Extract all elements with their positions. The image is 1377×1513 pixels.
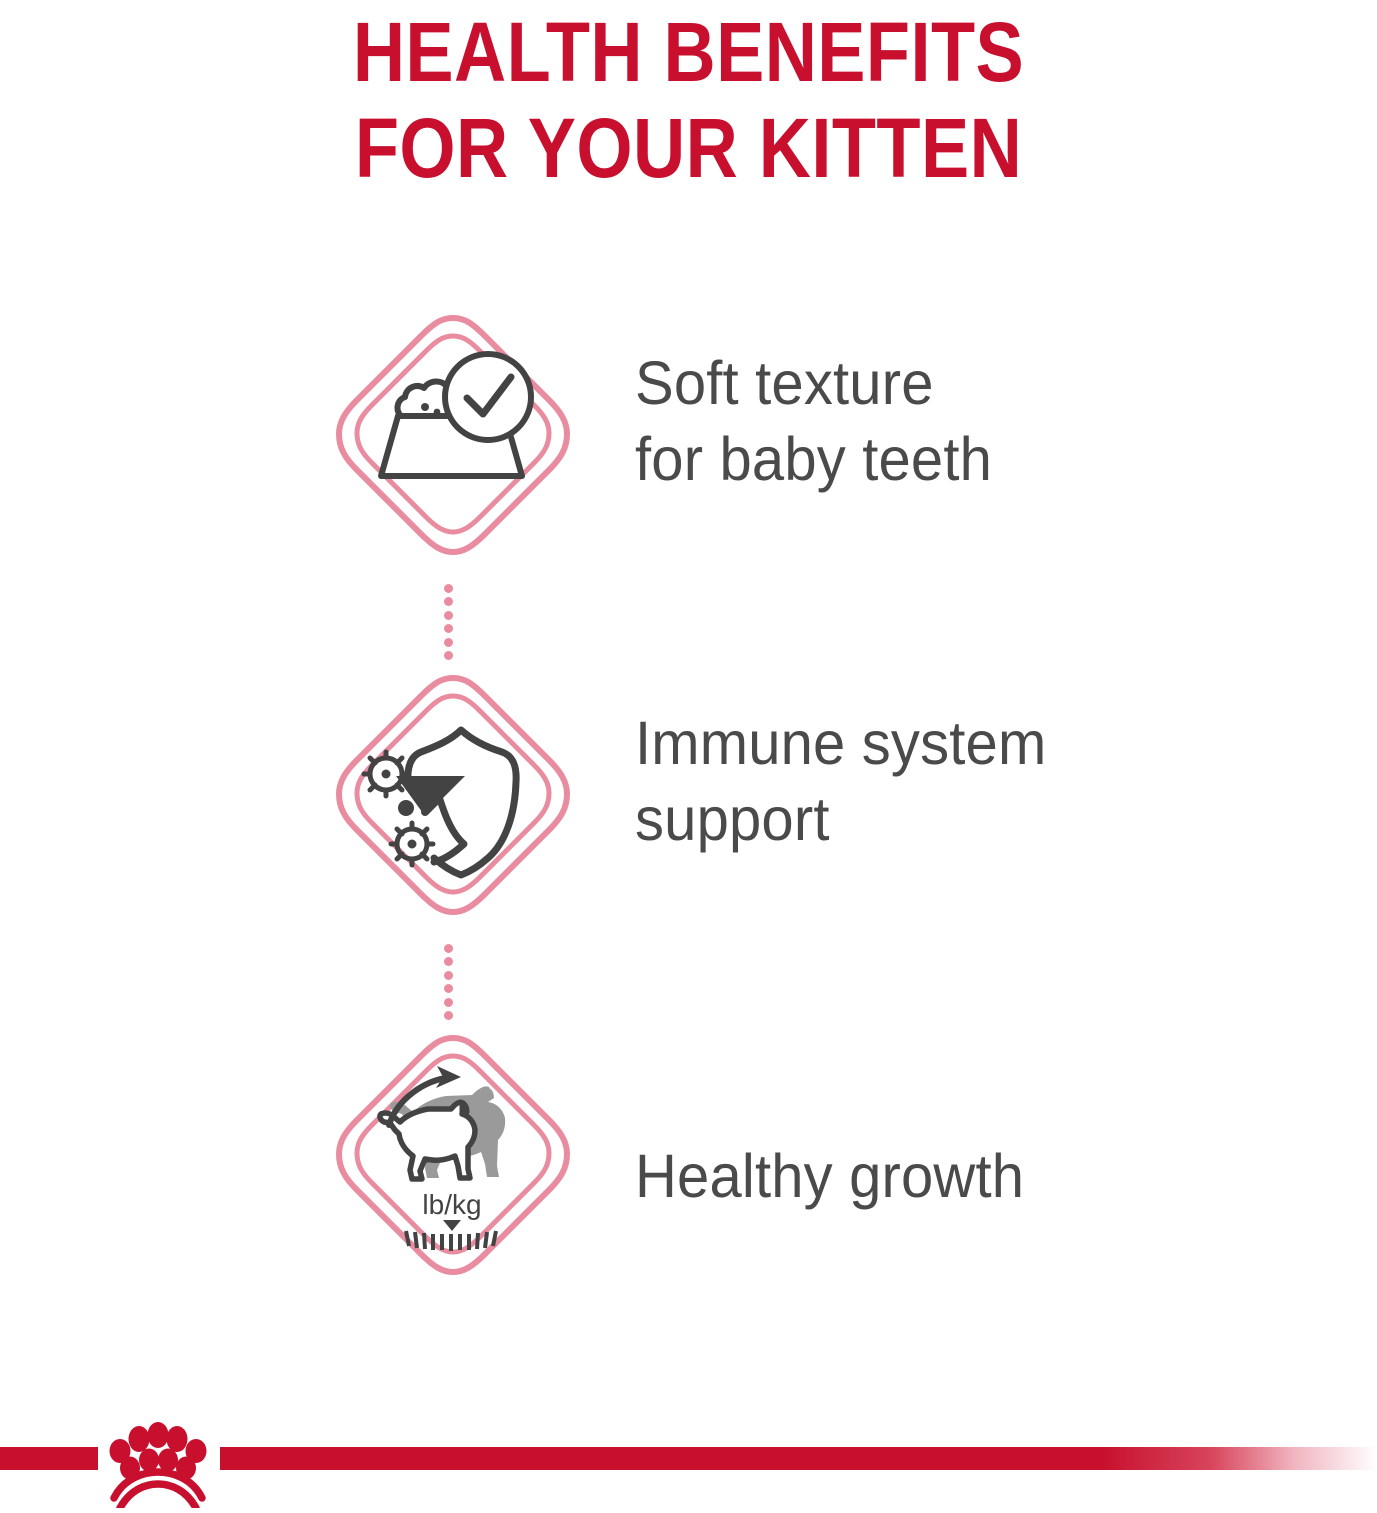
page-title: HEALTH BENEFITS FOR YOUR KITTEN <box>0 0 1377 196</box>
benefit-label-line-2: support <box>635 781 1291 857</box>
title-line-1: HEALTH BENEFITS <box>96 4 1280 100</box>
footer <box>0 1430 1377 1500</box>
health-benefits-list: Soft texture for baby teeth <box>0 300 1377 1380</box>
dotted-connector <box>440 584 456 660</box>
benefit-label-line-1: Healthy growth <box>635 1138 1291 1214</box>
benefit-label: Immune system support <box>635 705 1291 857</box>
benefit-icon-food-bowl <box>333 312 573 574</box>
connector-dot <box>444 957 453 966</box>
connector-dot <box>444 971 453 980</box>
benefit-label-line-1: Soft texture <box>635 345 1291 421</box>
connector-dot <box>444 597 453 606</box>
title-line-2: FOR YOUR KITTEN <box>96 100 1280 196</box>
benefit-icon-cat-growth: lb/kg <box>333 1032 573 1294</box>
benefit-row: Immune system support <box>0 660 1377 1020</box>
connector-dot <box>444 651 453 660</box>
benefit-label-line-1: Immune system <box>635 705 1291 781</box>
benefit-row: Soft texture for baby teeth <box>0 300 1377 660</box>
benefit-label-line-2: for baby teeth <box>635 421 1291 497</box>
benefit-row: lb/kg Healt <box>0 1020 1377 1380</box>
benefit-label: Healthy growth <box>635 1138 1291 1214</box>
benefit-label: Soft texture for baby teeth <box>635 345 1291 497</box>
connector-dot <box>444 624 453 633</box>
connector-dot <box>444 611 453 620</box>
connector-dot <box>444 1011 453 1020</box>
benefit-icon-shield <box>333 672 573 934</box>
connector-dot <box>444 638 453 647</box>
connector-dot <box>444 584 453 593</box>
connector-dot <box>444 944 453 953</box>
connector-dot <box>444 998 453 1007</box>
royal-canin-crown-icon <box>92 1420 224 1508</box>
dotted-connector <box>440 944 456 1020</box>
connector-dot <box>444 984 453 993</box>
scale-unit-label: lb/kg <box>422 1189 481 1220</box>
